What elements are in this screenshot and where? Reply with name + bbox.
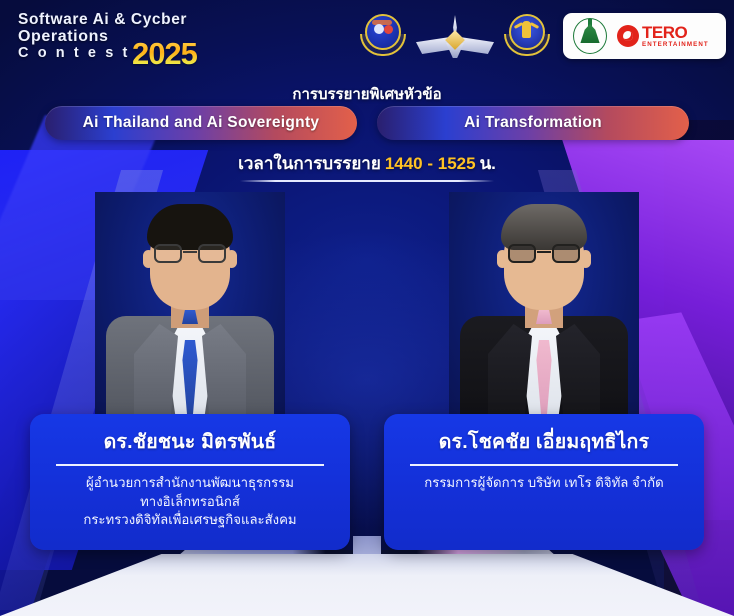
- section-kicker: การบรรยายพิเศษหัวข้อ: [0, 82, 734, 106]
- slide-header: Software Ai & Cycber Operations C o n t …: [0, 0, 734, 72]
- royal-thai-government-emblem-icon: [573, 18, 607, 54]
- speaker-name-2: ดร.โชคชัย เอี่ยมฤทธิไกร: [396, 426, 692, 457]
- partner-logo-panel: TERO ENTERTAINMENT: [563, 13, 726, 59]
- topic-pill-1[interactable]: Ai Thailand and Ai Sovereignty: [45, 106, 357, 140]
- speaker-portrait-right: [449, 192, 639, 424]
- event-logo: Software Ai & Cycber Operations C o n t …: [18, 12, 223, 70]
- time-divider-rule: [240, 180, 494, 182]
- speaker-name-rule-2: [410, 464, 678, 466]
- event-logo-line-2: Operations: [18, 29, 130, 45]
- organizer-logos: [358, 10, 577, 60]
- speaker-list: ดร.ชัยชนะ มิตรพันธ์ ผู้อำนวยการสำนักงานพ…: [0, 192, 734, 550]
- air-force-wings-icon: [416, 11, 494, 59]
- speaker-info-card-1: ดร.ชัยชนะ มิตรพันธ์ ผู้อำนวยการสำนักงานพ…: [30, 414, 350, 550]
- speaker-card-1: ดร.ชัยชนะ มิตรพันธ์ ผู้อำนวยการสำนักงานพ…: [30, 192, 350, 550]
- speaker-role-1-line-3: กระทรวงดิจิทัลเพื่อเศรษฐกิจและสังคม: [42, 511, 338, 530]
- speaker-name-1: ดร.ชัยชนะ มิตรพันธ์: [42, 426, 338, 457]
- speaker-role-2: กรรมการผู้จัดการ บริษัท เทโร ดิจิทัล จำก…: [396, 474, 692, 493]
- tero-swirl-icon: [617, 25, 639, 47]
- topic-pill-group: Ai Thailand and Ai Sovereignty Ai Transf…: [0, 106, 734, 140]
- glasses-icon: [154, 244, 226, 264]
- tero-logo-subtitle: ENTERTAINMENT: [642, 42, 709, 48]
- event-logo-line-1: Software Ai & Cycber: [18, 12, 223, 28]
- speaker-role-1-line-2: ทางอิเล็กทรอนิกส์: [42, 493, 338, 512]
- tero-logo-name: TERO: [642, 24, 709, 41]
- speaker-info-card-2: ดร.โชคชัย เอี่ยมฤทธิไกร กรรมการผู้จัดการ…: [384, 414, 704, 550]
- speaker-role-1: ผู้อำนวยการสำนักงานพัฒนาธุรกรรม ทางอิเล็…: [42, 474, 338, 530]
- tero-entertainment-logo: TERO ENTERTAINMENT: [617, 24, 709, 48]
- speaker-name-rule-1: [56, 464, 324, 466]
- session-time-value: 1440 - 1525: [385, 154, 476, 173]
- topic-pill-2[interactable]: Ai Transformation: [377, 106, 689, 140]
- agency-badge-icon: [358, 10, 408, 60]
- deity-badge-icon: [502, 10, 552, 60]
- speaker-role-1-line-1: ผู้อำนวยการสำนักงานพัฒนาธุรกรรม: [42, 474, 338, 493]
- session-time-prefix: เวลาในการบรรยาย: [238, 154, 381, 173]
- event-logo-year: 2025: [132, 38, 197, 69]
- session-time: เวลาในการบรรยาย1440 - 1525น.: [0, 150, 734, 177]
- presentation-slide: Software Ai & Cycber Operations C o n t …: [0, 0, 734, 616]
- speaker-role-2-line-1: กรรมการผู้จัดการ บริษัท เทโร ดิจิทัล จำก…: [396, 474, 692, 493]
- event-logo-line-3: C o n t e s t: [18, 46, 130, 61]
- glasses-icon: [508, 244, 580, 264]
- speaker-portrait-left: [95, 192, 285, 424]
- speaker-card-2: ดร.โชคชัย เอี่ยมฤทธิไกร กรรมการผู้จัดการ…: [384, 192, 704, 550]
- session-time-suffix: น.: [480, 154, 496, 173]
